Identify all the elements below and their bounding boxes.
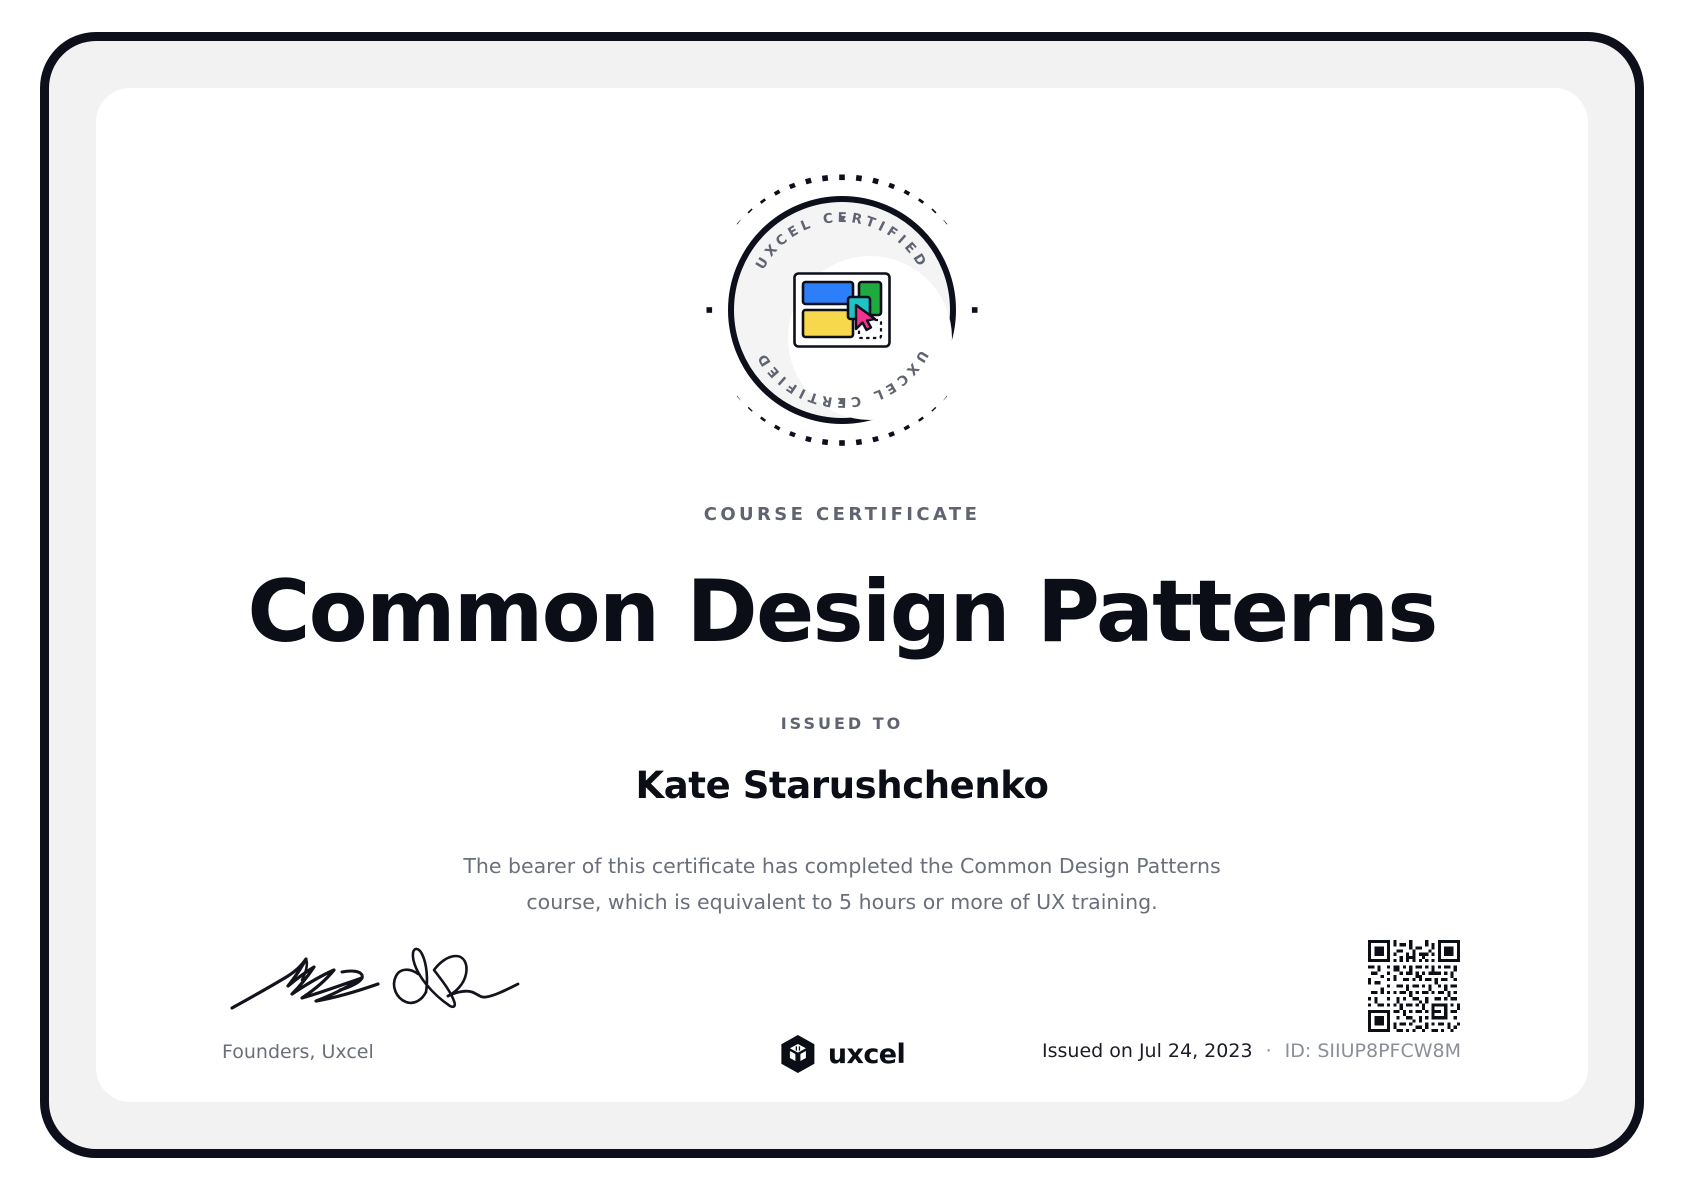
certificate-description: The bearer of this certificate has compl… [462,848,1222,921]
issue-date: Issued on Jul 24, 2023 [1042,1040,1253,1062]
recipient-name: Kate Starushchenko [96,764,1588,807]
verification-qr-code[interactable] [1368,940,1460,1032]
meta-separator: · [1259,1040,1279,1062]
certificate-card: UXCEL CERTIFIED UXCEL CERTIFIED COURSE [96,88,1588,1102]
certificate-id: ID: SIIUP8PFCW8M [1285,1040,1461,1062]
issued-to-label: ISSUED TO [96,714,1588,733]
brand-logo: uxcel [779,1034,905,1074]
certificate-meta: Issued on Jul 24, 2023 · ID: SIIUP8PFCW8… [1042,1040,1461,1062]
signature-caption: Founders, Uxcel [222,1041,374,1063]
certificate-outer-frame: UXCEL CERTIFIED UXCEL CERTIFIED COURSE [40,32,1644,1158]
uxcel-cube-logo-icon [779,1034,817,1074]
page-title: Common Design Patterns [96,566,1588,659]
certification-seal: UXCEL CERTIFIED UXCEL CERTIFIED [706,174,978,446]
brand-name: uxcel [828,1039,905,1070]
seal-dot-separator-top [839,216,844,221]
eyebrow-label: COURSE CERTIFICATE [96,504,1588,525]
founder-signatures-icon [222,940,522,1020]
design-patterns-layout-icon [793,272,891,348]
seal-dot-separator-bottom [839,399,844,404]
